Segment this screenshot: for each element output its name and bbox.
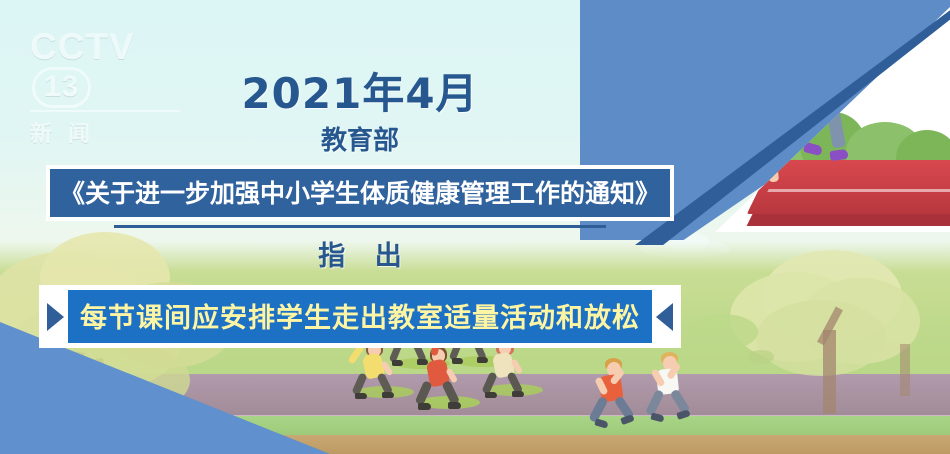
arrow-left-icon: [656, 303, 673, 331]
arrow-right-icon: [47, 303, 64, 331]
headline-verb: 指 出: [0, 234, 720, 273]
headline-date: 2021年4月: [0, 72, 720, 116]
document-title: 《关于进一步加强中小学生体质健康管理工作的通知》: [50, 169, 670, 217]
key-message: 每节课间应安排学生走出教室适量活动和放松: [68, 290, 652, 343]
document-title-frame: 《关于进一步加强中小学生体质健康管理工作的通知》: [46, 165, 674, 221]
document-title-underline: [114, 225, 606, 228]
news-graphic-stage: CCTV13 新闻 2021年4月 教育部 《关于进一步加强中小学生体质健康管理…: [0, 0, 950, 454]
headline-organization: 教育部: [0, 120, 720, 157]
key-message-frame: 每节课间应安排学生走出教室适量活动和放松: [39, 285, 681, 348]
headline-text-block: 2021年4月 教育部 《关于进一步加强中小学生体质健康管理工作的通知》 指 出…: [0, 72, 720, 348]
